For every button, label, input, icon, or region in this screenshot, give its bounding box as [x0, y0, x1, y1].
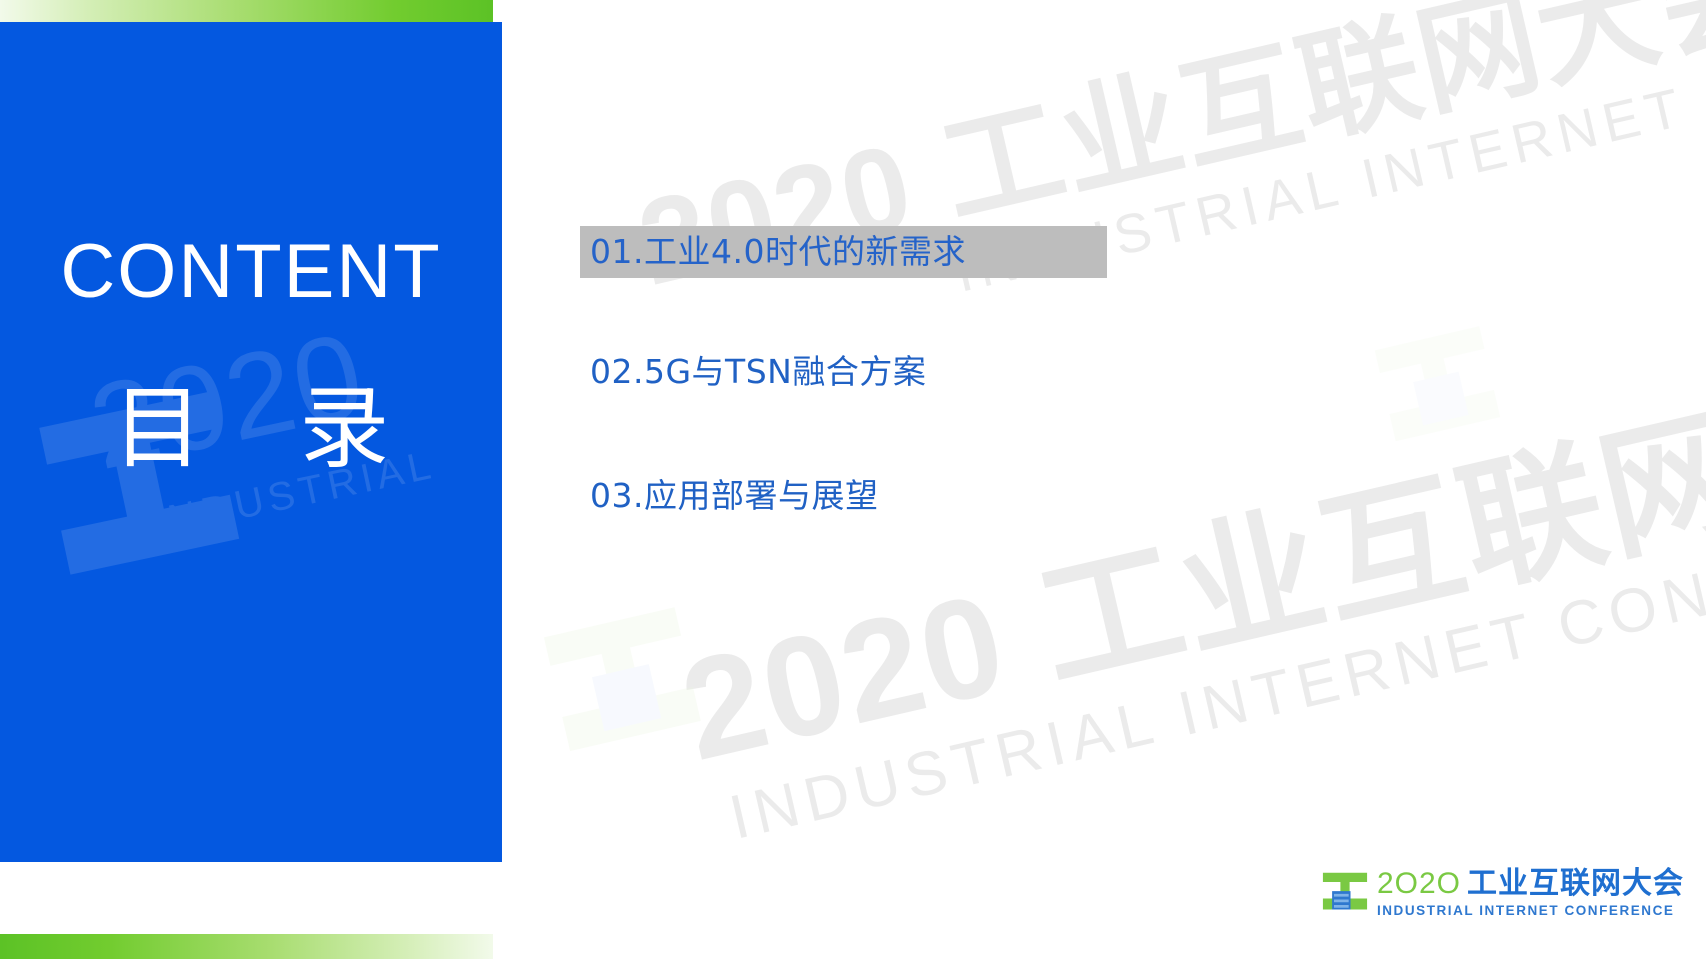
toc-spacer	[580, 398, 1280, 470]
table-of-contents: 01.工业4.0时代的新需求 02.5G与TSN融合方案 03.应用部署与展望	[580, 226, 1280, 522]
conference-logo: 2O2O 工业互联网大会 INDUSTRIAL INTERNET CONFERE…	[1322, 869, 1684, 918]
logo-chinese-name: 工业互联网大会	[1467, 869, 1684, 899]
panel-title-chinese: 目 录	[0, 384, 502, 474]
toc-item-03[interactable]: 03.应用部署与展望	[580, 470, 1280, 522]
panel-title-english: CONTENT	[0, 234, 502, 310]
toc-item-01[interactable]: 01.工业4.0时代的新需求	[580, 226, 1107, 278]
watermark-english: INDUSTRIAL INTERNET CONFERENCE	[723, 480, 1706, 854]
logo-text-block: 2O2O 工业互联网大会 INDUSTRIAL INTERNET CONFERE…	[1377, 869, 1684, 918]
gong-mark-watermark-icon	[534, 597, 712, 767]
slide-canvas: 2020 工业互联网大会 INDUSTRIAL INTERNET CONFERE…	[0, 0, 1706, 959]
gong-mark-icon	[1322, 870, 1368, 916]
content-panel: 2020 INDUSTRIAL CONTENT 目 录	[0, 22, 502, 862]
green-accent-bar-top	[0, 0, 493, 23]
toc-spacer	[580, 278, 1280, 346]
logo-primary-row: 2O2O 工业互联网大会	[1377, 869, 1684, 899]
green-accent-bar-bottom	[0, 934, 493, 959]
toc-item-02[interactable]: 02.5G与TSN融合方案	[580, 346, 1280, 398]
gong-mark-watermark-icon	[1367, 318, 1509, 454]
logo-year: 2O2O	[1377, 869, 1461, 899]
logo-english-name: INDUSTRIAL INTERNET CONFERENCE	[1377, 904, 1684, 918]
panel-watermark: 2020 INDUSTRIAL	[0, 302, 502, 722]
